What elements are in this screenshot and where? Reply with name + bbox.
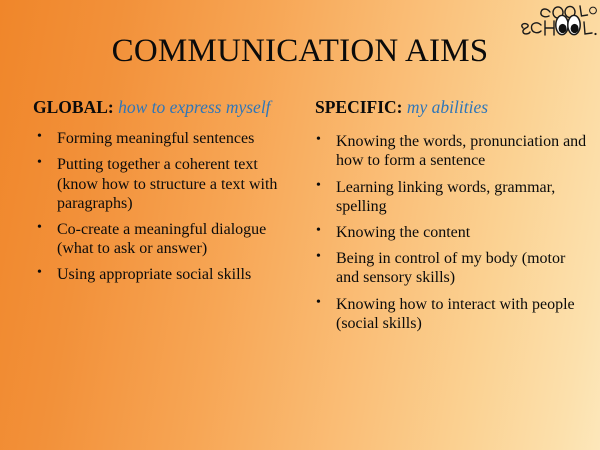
list-item: Putting together a coherent text (know h… — [33, 155, 290, 213]
global-bullet-list: Forming meaningful sentences Putting tog… — [33, 129, 290, 284]
column-global: GLOBAL: how to express myself Forming me… — [0, 96, 300, 292]
presentation-slide: COMMUNICATION AIMS GLOBAL: how to expres… — [0, 0, 600, 450]
list-item: Being in control of my body (motor and s… — [310, 249, 588, 287]
global-heading-lead: GLOBAL: — [33, 97, 114, 117]
specific-bullet-list: Knowing the words, pronunciation and how… — [310, 132, 588, 333]
global-heading-sub: how to express myself — [114, 97, 271, 117]
content-columns: GLOBAL: how to express myself Forming me… — [0, 96, 600, 426]
list-item: Knowing how to interact with people (soc… — [310, 295, 588, 333]
slide-title: COMMUNICATION AIMS — [0, 33, 600, 69]
global-heading: GLOBAL: how to express myself — [33, 96, 290, 118]
column-specific: SPECIFIC: my abilities Knowing the words… — [300, 96, 600, 340]
specific-heading-sub: my abilities — [403, 97, 489, 117]
list-item: Learning linking words, grammar, spellin… — [310, 178, 588, 216]
list-item: Co-create a meaningful dialogue (what to… — [33, 220, 290, 258]
specific-heading-lead: SPECIFIC: — [315, 97, 403, 117]
list-item: Forming meaningful sentences — [33, 129, 290, 148]
list-item: Knowing the words, pronunciation and how… — [310, 132, 588, 170]
specific-heading: SPECIFIC: my abilities — [310, 96, 588, 118]
list-item: Using appropriate social skills — [33, 265, 290, 284]
list-item: Knowing the content — [310, 223, 588, 242]
